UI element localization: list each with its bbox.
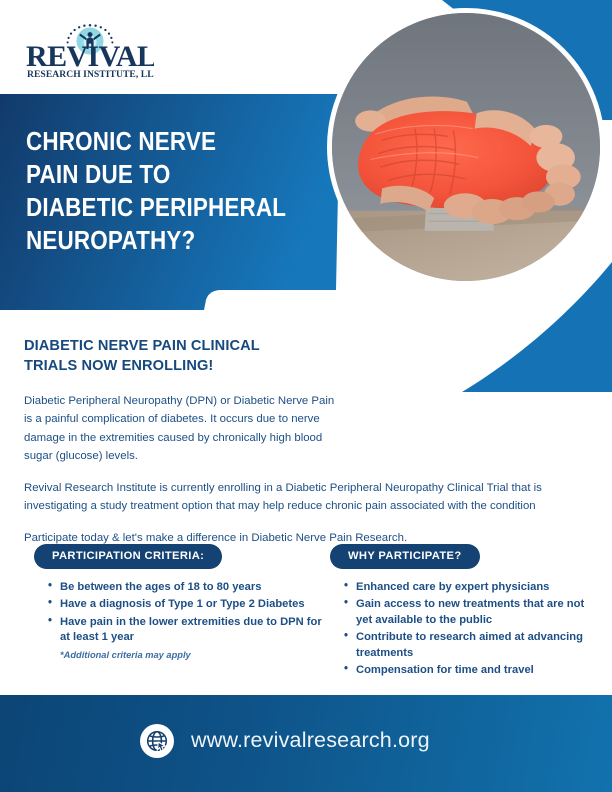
footer-content: www.revivalresearch.org <box>140 724 430 758</box>
subheading-line-2: TRIALS NOW ENROLLING! <box>24 356 344 376</box>
why-participate-badge: WHY PARTICIPATE? <box>330 544 480 569</box>
headline-line-3: DIABETIC PERIPHERAL <box>26 192 281 225</box>
list-item: Enhanced care by expert physicians <box>344 580 600 595</box>
flyer-page: REVIVAL RESEARCH INSTITUTE, LLC <box>0 0 612 792</box>
hands-holding-inflamed-foot-photo <box>327 8 605 286</box>
why-participate-list: Enhanced care by expert physicians Gain … <box>330 580 600 679</box>
revival-research-institute-logo: REVIVAL RESEARCH INSTITUTE, LLC <box>24 22 154 80</box>
logo-tagline: RESEARCH INSTITUTE, LLC <box>27 69 154 80</box>
criteria-footnote: *Additional criteria may apply <box>60 650 324 660</box>
headline-panel: CHRONIC NERVE PAIN DUE TO DIABETIC PERIP… <box>0 94 340 316</box>
list-item: Compensation for time and travel <box>344 663 600 678</box>
headline-line-2: PAIN DUE TO <box>26 159 281 192</box>
list-item: Be between the ages of 18 to 80 years <box>48 580 324 595</box>
subheading: DIABETIC NERVE PAIN CLINICAL TRIALS NOW … <box>24 336 344 376</box>
globe-cursor-icon <box>140 724 174 758</box>
body-paragraph-1: Diabetic Peripheral Neuropathy (DPN) or … <box>24 392 340 466</box>
subheading-line-1: DIABETIC NERVE PAIN CLINICAL <box>24 336 344 356</box>
list-item: Contribute to research aimed at advancin… <box>344 630 600 661</box>
headline-line-4: NEUROPATHY? <box>26 225 281 258</box>
list-item: Have pain in the lower extremities due t… <box>48 615 324 646</box>
participation-criteria-list: Be between the ages of 18 to 80 years Ha… <box>34 580 324 646</box>
body-paragraph-2: Revival Research Institute is currently … <box>24 479 590 516</box>
criteria-columns: PARTICIPATION CRITERIA: Be between the a… <box>0 544 612 684</box>
participation-criteria-column: PARTICIPATION CRITERIA: Be between the a… <box>34 544 324 660</box>
body-copy: Diabetic Peripheral Neuropathy (DPN) or … <box>24 392 590 547</box>
footer-bar: www.revivalresearch.org <box>0 695 612 792</box>
list-item: Have a diagnosis of Type 1 or Type 2 Dia… <box>48 597 324 612</box>
list-item: Gain access to new treatments that are n… <box>344 597 600 628</box>
why-participate-column: WHY PARTICIPATE? Enhanced care by expert… <box>330 544 600 681</box>
headline-line-1: CHRONIC NERVE <box>26 126 281 159</box>
hero-headline: CHRONIC NERVE PAIN DUE TO DIABETIC PERIP… <box>26 126 281 259</box>
participation-criteria-badge: PARTICIPATION CRITERIA: <box>34 544 222 569</box>
website-url[interactable]: www.revivalresearch.org <box>191 728 430 753</box>
